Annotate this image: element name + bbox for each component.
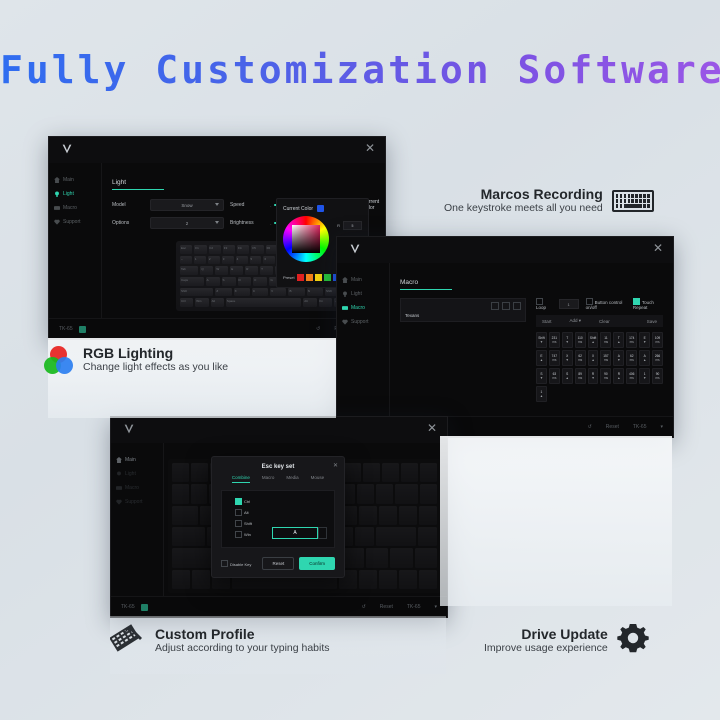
keycap[interactable]: E bbox=[230, 266, 243, 275]
macro-event-cell[interactable]: E▲ bbox=[536, 350, 547, 366]
connection-indicator-icon bbox=[141, 604, 148, 611]
sidebar-item-support[interactable]: Support bbox=[49, 215, 101, 229]
keyboard-pencil-icon bbox=[110, 622, 146, 659]
dialog-title: Esc key set bbox=[212, 457, 344, 475]
macro-event-cell[interactable]: 11ms bbox=[600, 332, 611, 348]
chevron-down-icon bbox=[215, 221, 219, 224]
macro-event-cell[interactable]: 266ms bbox=[652, 350, 663, 366]
macro-event-cell[interactable]: A▲ bbox=[639, 350, 650, 366]
sidebar-item-label: Main bbox=[351, 277, 362, 283]
macro-event-cell[interactable]: 109ms bbox=[652, 332, 663, 348]
close-icon[interactable]: ✕ bbox=[363, 141, 377, 155]
home-icon bbox=[342, 277, 348, 283]
picker-header: Current Color bbox=[283, 205, 362, 212]
brightness-label: Brightness bbox=[230, 220, 264, 226]
keycap[interactable]: B bbox=[288, 288, 304, 297]
channel-label: R bbox=[337, 223, 340, 228]
sidebar-item-support[interactable]: Support bbox=[337, 315, 389, 329]
gear-icon bbox=[617, 622, 649, 659]
sidebar-item-label: Support bbox=[351, 319, 369, 325]
rgb-circles-icon bbox=[44, 346, 74, 374]
macro-event-cell[interactable]: 62ms bbox=[575, 350, 586, 366]
light-window-titlebar: ✕ bbox=[49, 137, 385, 163]
macro-event-cell[interactable]: 90ms bbox=[600, 368, 611, 384]
keycap[interactable]: Tab bbox=[180, 266, 198, 275]
macro-event-cell[interactable]: 63ms bbox=[549, 368, 560, 384]
light-sidebar: Main Light Macro Support bbox=[49, 163, 102, 319]
modifier-ctrl[interactable]: Ctrl bbox=[235, 498, 334, 505]
keycap[interactable]: Q bbox=[200, 266, 213, 275]
keycap-space[interactable]: Space bbox=[226, 298, 301, 307]
support-icon bbox=[342, 319, 348, 325]
new-icon[interactable] bbox=[491, 302, 499, 310]
macro-event-cell[interactable]: 90ms bbox=[652, 368, 663, 384]
modifier-shift[interactable]: Shift bbox=[235, 520, 334, 527]
page-title: Fully Customization Software bbox=[0, 48, 720, 92]
bulb-icon bbox=[116, 471, 122, 477]
keycap[interactable]: 6 bbox=[263, 256, 275, 265]
preset-swatch[interactable] bbox=[315, 274, 322, 281]
reset-button[interactable]: Reset bbox=[606, 424, 619, 430]
keycap[interactable]: Alt bbox=[211, 298, 224, 307]
keycap[interactable]: 1 bbox=[194, 256, 206, 265]
sidebar-item-main[interactable]: Main bbox=[49, 173, 101, 187]
device-selector[interactable]: TK-65 bbox=[633, 424, 647, 430]
reset-button[interactable]: Reset bbox=[262, 557, 294, 570]
macro-event-cell[interactable]: R▼ bbox=[588, 368, 599, 384]
save-button[interactable]: Save bbox=[647, 319, 657, 324]
macro-content: Macro Texans bbox=[390, 263, 673, 417]
dialog-body: Ctrl Alt Shift Win + A bbox=[221, 490, 335, 548]
close-icon[interactable]: ✕ bbox=[651, 241, 665, 255]
model-label: Model bbox=[112, 202, 144, 208]
sidebar-item-label: Support bbox=[125, 499, 143, 505]
macro-event-cell[interactable]: 406ms bbox=[626, 368, 637, 384]
channel-input[interactable]: 5 bbox=[343, 221, 362, 230]
macro-event-cell[interactable]: Shift▲ bbox=[588, 332, 599, 348]
device-selector[interactable]: TK-65 bbox=[407, 604, 421, 610]
macro-window-titlebar: ✕ bbox=[337, 237, 673, 263]
sidebar-item-label: Support bbox=[63, 219, 81, 225]
close-icon[interactable]: ✕ bbox=[333, 462, 338, 469]
callout-rgb-lighting: RGB Lighting Change light effects as you… bbox=[44, 345, 228, 375]
preset-swatch[interactable] bbox=[306, 274, 313, 281]
callout-subtitle: Improve usage experience bbox=[484, 642, 608, 656]
tab-media[interactable]: Media bbox=[286, 475, 298, 483]
profile-statusbar: TK-65 ↺ Reset TK-65 ▾ bbox=[111, 596, 447, 617]
sidebar-item-support[interactable]: Support bbox=[111, 495, 163, 509]
keycap[interactable]: F1 bbox=[194, 245, 206, 254]
sidebar-item-macro[interactable]: Macro bbox=[111, 481, 163, 495]
keycap[interactable]: D bbox=[238, 277, 252, 286]
keycap[interactable]: Win bbox=[195, 298, 208, 307]
drive-callout-panel bbox=[440, 436, 672, 606]
slider-min-label: - bbox=[270, 203, 271, 208]
sidebar-item-label: Macro bbox=[351, 305, 365, 311]
sidebar-item-label: Light bbox=[125, 471, 136, 477]
macro-event-cell[interactable]: X▼ bbox=[562, 350, 573, 366]
macro-event-cell[interactable]: 747ms bbox=[549, 350, 560, 366]
macro-options: Loop 1 Button control on/off Touch Repea… bbox=[536, 298, 663, 310]
list-item[interactable]: Texans bbox=[405, 313, 419, 318]
preset-label: Preset bbox=[283, 275, 295, 280]
macro-event-cell[interactable]: T▲ bbox=[613, 332, 624, 348]
key-input[interactable]: A bbox=[272, 527, 318, 539]
macro-toolbar: Start Add ▾ Clear Save bbox=[536, 315, 663, 327]
home-icon bbox=[116, 457, 122, 463]
sidebar-item-label: Macro bbox=[125, 485, 139, 491]
keycap[interactable]: F3 bbox=[223, 245, 235, 254]
callout-subtitle: Adjust according to your typing habits bbox=[155, 642, 330, 656]
home-icon bbox=[54, 177, 60, 183]
keycap[interactable]: Ctrl bbox=[180, 298, 193, 307]
callout-title: Custom Profile bbox=[155, 626, 330, 642]
device-label: TK-65 bbox=[59, 326, 73, 332]
speed-label: Speed bbox=[230, 202, 264, 208]
color-wheel[interactable] bbox=[283, 216, 329, 262]
dialog-tabs: Combine Macro Media Mouse bbox=[212, 475, 344, 483]
preset-swatches: Preset bbox=[283, 274, 340, 281]
sidebar-item-main[interactable]: Main bbox=[111, 453, 163, 467]
macro-app-window: ✕ Main Light Macro Support bbox=[336, 236, 674, 438]
poster-canvas: Fully Customization Software ✕ Main Ligh… bbox=[0, 0, 720, 720]
options-value: 2 bbox=[186, 221, 189, 226]
macro-icon bbox=[54, 205, 60, 211]
keycap[interactable]: 5 bbox=[250, 256, 262, 265]
brand-logo-icon bbox=[59, 142, 75, 158]
macro-event-cell[interactable]: E▼ bbox=[639, 332, 650, 348]
sidebar-item-macro[interactable]: Macro bbox=[49, 201, 101, 215]
sidebar-item-light[interactable]: Light bbox=[111, 467, 163, 481]
keycap[interactable]: N bbox=[307, 288, 323, 297]
connection-indicator-icon bbox=[79, 326, 86, 333]
callout-drive-update: Drive Update Improve usage experience bbox=[484, 622, 649, 659]
macro-event-cell[interactable]: 89ms bbox=[575, 368, 586, 384]
profile-window-titlebar: ✕ bbox=[111, 417, 447, 443]
model-value: Snow bbox=[181, 203, 192, 208]
sidebar-item-main[interactable]: Main bbox=[337, 273, 389, 287]
modifier-alt[interactable]: Alt bbox=[235, 509, 334, 516]
macro-icon bbox=[116, 485, 122, 491]
disable-key-checkbox[interactable]: Disable Key bbox=[221, 560, 251, 567]
keycap[interactable]: F2 bbox=[209, 245, 221, 254]
device-label: TK-65 bbox=[121, 604, 135, 610]
button-control-checkbox[interactable]: Button control on/off bbox=[586, 298, 626, 310]
callout-custom-profile: Custom Profile Adjust according to your … bbox=[110, 622, 330, 659]
callout-title: RGB Lighting bbox=[83, 345, 228, 361]
keycap[interactable]: W bbox=[215, 266, 228, 275]
chevron-down-icon bbox=[215, 203, 219, 206]
keycap[interactable]: V bbox=[270, 288, 286, 297]
macro-event-cell[interactable]: 1▼ bbox=[639, 368, 650, 384]
copy-icon[interactable] bbox=[502, 302, 510, 310]
clear-button[interactable]: Clear bbox=[599, 319, 610, 324]
macro-event-cell[interactable]: X▲ bbox=[588, 350, 599, 366]
options-select[interactable]: 2 bbox=[150, 217, 224, 229]
loop-count-stepper[interactable]: 1 bbox=[559, 299, 579, 309]
callout-marcos-recording: Marcos Recording One keystroke meets all… bbox=[444, 186, 654, 216]
bulb-icon bbox=[342, 291, 348, 297]
keycap[interactable]: T bbox=[260, 266, 273, 275]
touch-repeat-checkbox[interactable]: Touch Repeat bbox=[633, 298, 663, 310]
sidebar-item-label: Main bbox=[63, 177, 74, 183]
tab-macro[interactable]: Macro bbox=[262, 475, 275, 483]
keycap[interactable]: 3 bbox=[222, 256, 234, 265]
callout-subtitle: Change light effects as you like bbox=[83, 361, 228, 375]
macro-event-cell[interactable]: Shift▼ bbox=[536, 332, 547, 348]
macro-event-cell[interactable]: 1▲ bbox=[536, 386, 547, 402]
esc-key-set-dialog: ✕ Esc key set Combine Macro Media Mouse … bbox=[211, 456, 345, 578]
chevron-down-icon[interactable]: ▾ bbox=[660, 424, 663, 430]
keycap[interactable]: Fn bbox=[319, 298, 332, 307]
refresh-icon[interactable]: ↺ bbox=[588, 424, 592, 430]
keycap[interactable]: 2 bbox=[208, 256, 220, 265]
keycap[interactable]: X bbox=[234, 288, 250, 297]
support-icon bbox=[54, 219, 60, 225]
macro-event-cell[interactable]: 62ms bbox=[626, 350, 637, 366]
tab-macro[interactable]: Macro bbox=[400, 279, 452, 290]
macro-icon bbox=[342, 305, 348, 311]
keycap[interactable]: Caps bbox=[180, 277, 204, 286]
keycap[interactable]: F4 bbox=[237, 245, 249, 254]
keycap[interactable]: F5 bbox=[251, 245, 263, 254]
close-icon[interactable]: ✕ bbox=[425, 421, 439, 435]
picker-title: Current Color bbox=[283, 206, 313, 212]
channel-r: R 5 bbox=[337, 221, 362, 230]
callout-subtitle: One keystroke meets all you need bbox=[444, 202, 603, 216]
tab-light[interactable]: Light bbox=[112, 179, 164, 190]
keycap[interactable]: F bbox=[253, 277, 267, 286]
sidebar-item-label: Main bbox=[125, 457, 136, 463]
macro-sidebar: Main Light Macro Support bbox=[337, 263, 390, 417]
keycap[interactable]: 4 bbox=[236, 256, 248, 265]
brand-logo-icon bbox=[121, 422, 137, 438]
add-button[interactable]: Add ▾ bbox=[570, 318, 582, 324]
dialog-footer: Disable Key Reset Confirm bbox=[221, 557, 335, 570]
macro-event-cell[interactable]: A▼ bbox=[613, 350, 624, 366]
confirm-button[interactable]: Confirm bbox=[299, 557, 335, 570]
keycap[interactable]: ~ bbox=[180, 256, 192, 265]
keycap[interactable]: Z bbox=[215, 288, 231, 297]
preset-swatch[interactable] bbox=[297, 274, 304, 281]
chevron-down-icon[interactable]: ▾ bbox=[434, 604, 437, 610]
model-select[interactable]: Snow bbox=[150, 199, 224, 211]
macro-event-cell[interactable]: R▲ bbox=[613, 368, 624, 384]
start-button[interactable]: Start bbox=[542, 319, 552, 324]
macro-event-cell[interactable]: S▲ bbox=[562, 368, 573, 384]
macro-event-cell[interactable]: 174ms bbox=[626, 332, 637, 348]
delete-icon[interactable] bbox=[513, 302, 521, 310]
callout-title: Drive Update bbox=[484, 626, 608, 642]
picker-current-swatch[interactable] bbox=[317, 205, 324, 212]
refresh-icon[interactable]: ↺ bbox=[316, 326, 320, 332]
keyboard-icon bbox=[612, 190, 654, 212]
macro-list-tools bbox=[491, 302, 521, 310]
bulb-icon bbox=[54, 191, 60, 197]
macro-event-cell[interactable]: T▼ bbox=[562, 332, 573, 348]
macro-event-cell[interactable]: 157ms bbox=[600, 350, 611, 366]
slider-min-label: - bbox=[270, 221, 271, 226]
key-picker-button[interactable] bbox=[318, 527, 327, 539]
callout-title: Marcos Recording bbox=[444, 186, 603, 202]
macro-event-cell[interactable]: S▼ bbox=[536, 368, 547, 384]
sidebar-item-label: Light bbox=[351, 291, 362, 297]
macro-window-body: Main Light Macro Support Macro bbox=[337, 263, 673, 417]
macro-event-grid: Shift▼ 231ms T▼ 110ms Shift▲ 11ms T▲ 174… bbox=[536, 332, 663, 402]
sidebar-item-light[interactable]: Light bbox=[49, 187, 101, 201]
refresh-icon[interactable]: ↺ bbox=[362, 604, 366, 610]
tab-mouse[interactable]: Mouse bbox=[311, 475, 325, 483]
macro-event-cell[interactable]: 110ms bbox=[575, 332, 586, 348]
loop-checkbox[interactable]: Loop bbox=[536, 298, 552, 310]
reset-button[interactable]: Reset bbox=[380, 604, 393, 610]
brand-logo-icon bbox=[347, 242, 363, 258]
keycap[interactable]: R bbox=[245, 266, 258, 275]
sidebar-item-macro[interactable]: Macro bbox=[337, 301, 389, 315]
support-icon bbox=[116, 499, 122, 505]
keycap[interactable]: C bbox=[252, 288, 268, 297]
keycap[interactable]: A bbox=[206, 277, 220, 286]
sidebar-item-label: Macro bbox=[63, 205, 77, 211]
tab-combine[interactable]: Combine bbox=[232, 475, 250, 483]
sidebar-item-label: Light bbox=[63, 191, 74, 197]
options-label: Options bbox=[112, 220, 144, 226]
light-statusbar: TK-65 ↺ Reset TK-65 bbox=[49, 318, 385, 339]
keycap[interactable]: Esc bbox=[180, 245, 192, 254]
sidebar-item-light[interactable]: Light bbox=[337, 287, 389, 301]
profile-sidebar: Main Light Macro Support bbox=[111, 443, 164, 597]
macro-list[interactable]: Texans bbox=[400, 298, 526, 322]
keycap[interactable]: Alt bbox=[303, 298, 316, 307]
macro-event-cell[interactable]: 231ms bbox=[549, 332, 560, 348]
keycap[interactable]: S bbox=[222, 277, 236, 286]
preset-swatch[interactable] bbox=[324, 274, 331, 281]
keycap[interactable]: Shift bbox=[180, 288, 213, 297]
